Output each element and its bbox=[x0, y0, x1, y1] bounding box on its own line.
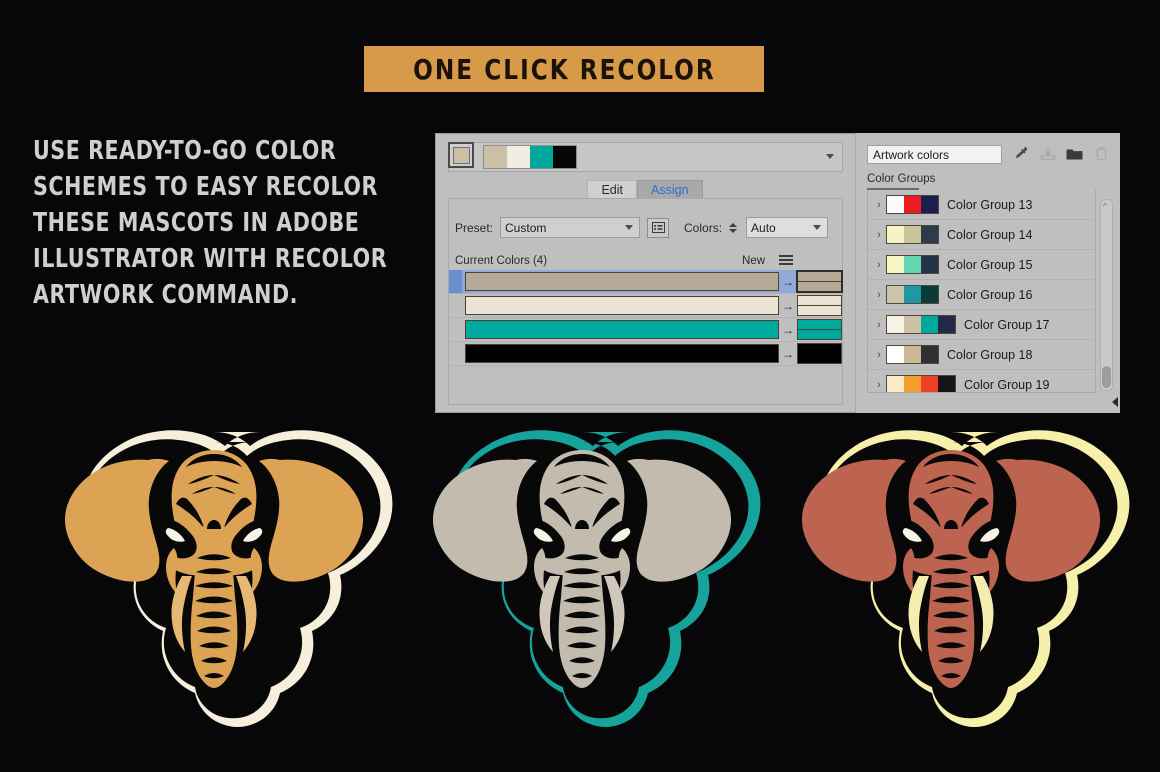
maps-to-arrow-icon: → bbox=[779, 276, 797, 288]
new-color-part bbox=[798, 329, 841, 339]
color-mapping-row[interactable]: → bbox=[449, 294, 842, 318]
description-line-4: ILLUSTRATOR WITH RECOLOR bbox=[33, 241, 389, 277]
chevron-down-icon bbox=[826, 154, 834, 159]
color-group-swatches[interactable] bbox=[886, 195, 939, 214]
preset-label: Preset: bbox=[455, 221, 493, 235]
color-group-swatch bbox=[921, 196, 938, 213]
current-color-swatch[interactable] bbox=[465, 272, 779, 291]
colors-stepper[interactable] bbox=[729, 223, 739, 233]
color-group-swatch bbox=[904, 286, 921, 303]
color-mapping-row[interactable]: → bbox=[449, 318, 842, 342]
preset-select[interactable]: Custom bbox=[500, 217, 640, 238]
artwork-swatch-1[interactable] bbox=[507, 146, 530, 168]
description-line-1: USE READY-TO-GO COLOR bbox=[33, 133, 389, 169]
color-group-swatches[interactable] bbox=[886, 225, 939, 244]
new-color-swatch[interactable] bbox=[797, 319, 842, 340]
color-group-swatches[interactable] bbox=[886, 255, 939, 274]
color-groups-label: Color Groups bbox=[867, 173, 935, 185]
color-group-toolbar bbox=[1012, 144, 1110, 162]
save-colors-icon[interactable] bbox=[1039, 144, 1056, 162]
preset-value: Custom bbox=[505, 221, 546, 235]
color-group-swatch bbox=[904, 346, 921, 363]
color-reduction-options-button[interactable] bbox=[647, 218, 669, 238]
elephant-mascot-svg bbox=[765, 424, 1137, 754]
chevron-down-icon bbox=[813, 225, 821, 230]
new-color-part bbox=[798, 272, 841, 281]
tab-edit[interactable]: Edit bbox=[587, 180, 637, 200]
colors-count-value: Auto bbox=[751, 221, 776, 235]
color-strip-dropdown[interactable] bbox=[819, 145, 841, 167]
colors-label: Colors: bbox=[684, 221, 722, 235]
artwork-swatch-3[interactable] bbox=[553, 146, 576, 168]
row-select-bar[interactable] bbox=[449, 270, 462, 293]
colors-count-select[interactable]: Auto bbox=[746, 217, 828, 238]
color-mapping-row[interactable]: → bbox=[449, 270, 842, 294]
recolor-artwork-panel: Edit Assign Preset: Custom bbox=[435, 133, 1120, 413]
mascot-row bbox=[0, 424, 1160, 772]
maps-to-arrow-icon: → bbox=[779, 324, 797, 336]
color-group-row[interactable]: ›Color Group 15 bbox=[868, 250, 1095, 280]
title-banner: ONE CLICK RECOLOR bbox=[364, 46, 764, 92]
color-group-row[interactable]: ›Color Group 16 bbox=[868, 280, 1095, 310]
color-group-swatch bbox=[904, 376, 921, 393]
color-group-name: Color Group 19 bbox=[964, 378, 1049, 392]
current-color-swatch[interactable] bbox=[465, 344, 779, 363]
current-color-swatch[interactable] bbox=[465, 320, 779, 339]
chevron-right-icon[interactable]: › bbox=[872, 199, 886, 211]
row-select-bar[interactable] bbox=[449, 318, 462, 341]
new-colors-header: New bbox=[742, 255, 765, 267]
row-select-bar[interactable] bbox=[449, 342, 462, 365]
chevron-right-icon[interactable]: › bbox=[872, 349, 886, 361]
color-group-swatch bbox=[904, 256, 921, 273]
color-group-swatches[interactable] bbox=[886, 315, 956, 334]
color-mapping-row[interactable]: → bbox=[449, 342, 842, 366]
description-line-2: SCHEMES TO EASY RECOLOR bbox=[33, 169, 389, 205]
new-color-part bbox=[798, 344, 841, 363]
new-color-group-folder-icon[interactable] bbox=[1066, 144, 1083, 162]
description-line-3: THESE MASCOTS IN ADOBE bbox=[33, 205, 389, 241]
scrollbar-thumb[interactable] bbox=[1102, 366, 1111, 388]
chevron-right-icon[interactable]: › bbox=[872, 379, 886, 391]
color-group-row[interactable]: ›Color Group 13 bbox=[868, 190, 1095, 220]
mascot-artwork bbox=[433, 430, 760, 727]
color-group-swatch bbox=[887, 316, 904, 333]
color-group-swatch bbox=[921, 316, 938, 333]
color-group-swatch bbox=[887, 196, 904, 213]
panel-tabs: Edit Assign bbox=[435, 180, 855, 200]
elephant-mascot-svg bbox=[396, 424, 768, 754]
maps-to-arrow-icon: → bbox=[779, 300, 797, 312]
list-options-icon bbox=[652, 222, 665, 233]
artwork-swatch-2[interactable] bbox=[530, 146, 553, 168]
color-group-row[interactable]: ›Color Group 17 bbox=[868, 310, 1095, 340]
row-select-bar[interactable] bbox=[449, 294, 462, 317]
stepper-down-icon bbox=[729, 229, 737, 233]
new-color-part bbox=[798, 305, 841, 315]
current-color-swatch[interactable] bbox=[465, 296, 779, 315]
color-group-swatch bbox=[921, 286, 938, 303]
color-group-swatches[interactable] bbox=[886, 345, 939, 364]
color-group-swatch bbox=[887, 376, 904, 393]
mascot-artwork bbox=[65, 430, 392, 727]
artwork-swatch-0[interactable] bbox=[484, 146, 507, 168]
elephant-mascot-terracotta bbox=[765, 424, 1137, 754]
color-group-swatch bbox=[921, 226, 938, 243]
elephant-mascot-svg bbox=[28, 424, 400, 754]
poster-canvas: ONE CLICK RECOLOR USE READY-TO-GO COLOR … bbox=[0, 0, 1160, 772]
new-color-part bbox=[798, 281, 841, 291]
color-group-swatches[interactable] bbox=[886, 375, 956, 393]
color-mapping-rows: →→→→ bbox=[449, 270, 842, 366]
color-group-swatch bbox=[921, 346, 938, 363]
panel-resize-gripper[interactable] bbox=[1112, 397, 1118, 407]
new-color-swatch[interactable] bbox=[797, 295, 842, 316]
tab-assign[interactable]: Assign bbox=[637, 180, 703, 200]
color-group-row[interactable]: ›Color Group 14 bbox=[868, 220, 1095, 250]
color-group-swatch bbox=[887, 346, 904, 363]
hamburger-menu-icon[interactable] bbox=[779, 255, 793, 268]
eyedropper-icon[interactable] bbox=[1012, 144, 1029, 162]
color-group-name: Color Group 14 bbox=[947, 228, 1032, 242]
preset-row: Preset: Custom Colors: bbox=[455, 217, 828, 238]
new-color-swatch[interactable] bbox=[797, 343, 842, 364]
page-title: ONE CLICK RECOLOR bbox=[413, 53, 716, 86]
maps-to-arrow-icon: → bbox=[779, 348, 797, 360]
artwork-colors-field[interactable]: Artwork colors bbox=[867, 145, 1002, 164]
chevron-right-icon[interactable]: › bbox=[872, 229, 886, 241]
color-group-swatch bbox=[887, 256, 904, 273]
color-group-name: Color Group 13 bbox=[947, 198, 1032, 212]
color-group-name: Color Group 15 bbox=[947, 258, 1032, 272]
color-group-swatch bbox=[904, 196, 921, 213]
color-group-swatch bbox=[921, 376, 938, 393]
stepper-up-icon bbox=[729, 223, 737, 227]
current-colors-header: Current Colors (4) bbox=[455, 255, 547, 267]
color-group-swatch bbox=[887, 286, 904, 303]
color-group-row[interactable]: ›Color Group 19 bbox=[868, 370, 1095, 393]
new-color-part bbox=[798, 296, 841, 305]
color-group-swatch bbox=[904, 316, 921, 333]
color-group-row[interactable]: ›Color Group 18 bbox=[868, 340, 1095, 370]
color-groups-list[interactable]: ›Color Group 13›Color Group 14›Color Gro… bbox=[867, 190, 1096, 393]
color-group-name: Color Group 17 bbox=[964, 318, 1049, 332]
assign-pane: Edit Assign Preset: Custom bbox=[435, 133, 855, 413]
color-groups-pane: Artwork colors bbox=[855, 133, 1120, 413]
delete-icon[interactable] bbox=[1093, 144, 1110, 162]
elephant-mascot-taupe bbox=[396, 424, 768, 754]
description-text: USE READY-TO-GO COLOR SCHEMES TO EASY RE… bbox=[33, 133, 428, 313]
color-group-name: Color Group 16 bbox=[947, 288, 1032, 302]
description-line-5: ARTWORK COMMAND. bbox=[33, 277, 389, 313]
active-color-group-swatch[interactable] bbox=[448, 142, 474, 168]
color-group-swatch bbox=[938, 376, 955, 393]
new-color-part bbox=[798, 320, 841, 329]
chevron-right-icon[interactable]: › bbox=[872, 259, 886, 271]
color-group-swatch bbox=[938, 316, 955, 333]
color-groups-scrollbar[interactable]: ^ bbox=[1100, 199, 1113, 391]
chevron-down-icon bbox=[625, 225, 633, 230]
artwork-swatch-row[interactable] bbox=[483, 145, 577, 169]
scroll-up-icon: ^ bbox=[1103, 202, 1107, 211]
color-group-name: Color Group 18 bbox=[947, 348, 1032, 362]
active-swatch-fill bbox=[453, 147, 470, 164]
color-group-swatch bbox=[921, 256, 938, 273]
new-color-swatch[interactable] bbox=[797, 271, 842, 292]
chevron-right-icon[interactable]: › bbox=[872, 289, 886, 301]
chevron-right-icon[interactable]: › bbox=[872, 319, 886, 331]
color-group-swatches[interactable] bbox=[886, 285, 939, 304]
color-group-swatch bbox=[887, 226, 904, 243]
mascot-artwork bbox=[802, 430, 1129, 727]
color-group-swatch bbox=[904, 226, 921, 243]
elephant-mascot-gold bbox=[28, 424, 400, 754]
